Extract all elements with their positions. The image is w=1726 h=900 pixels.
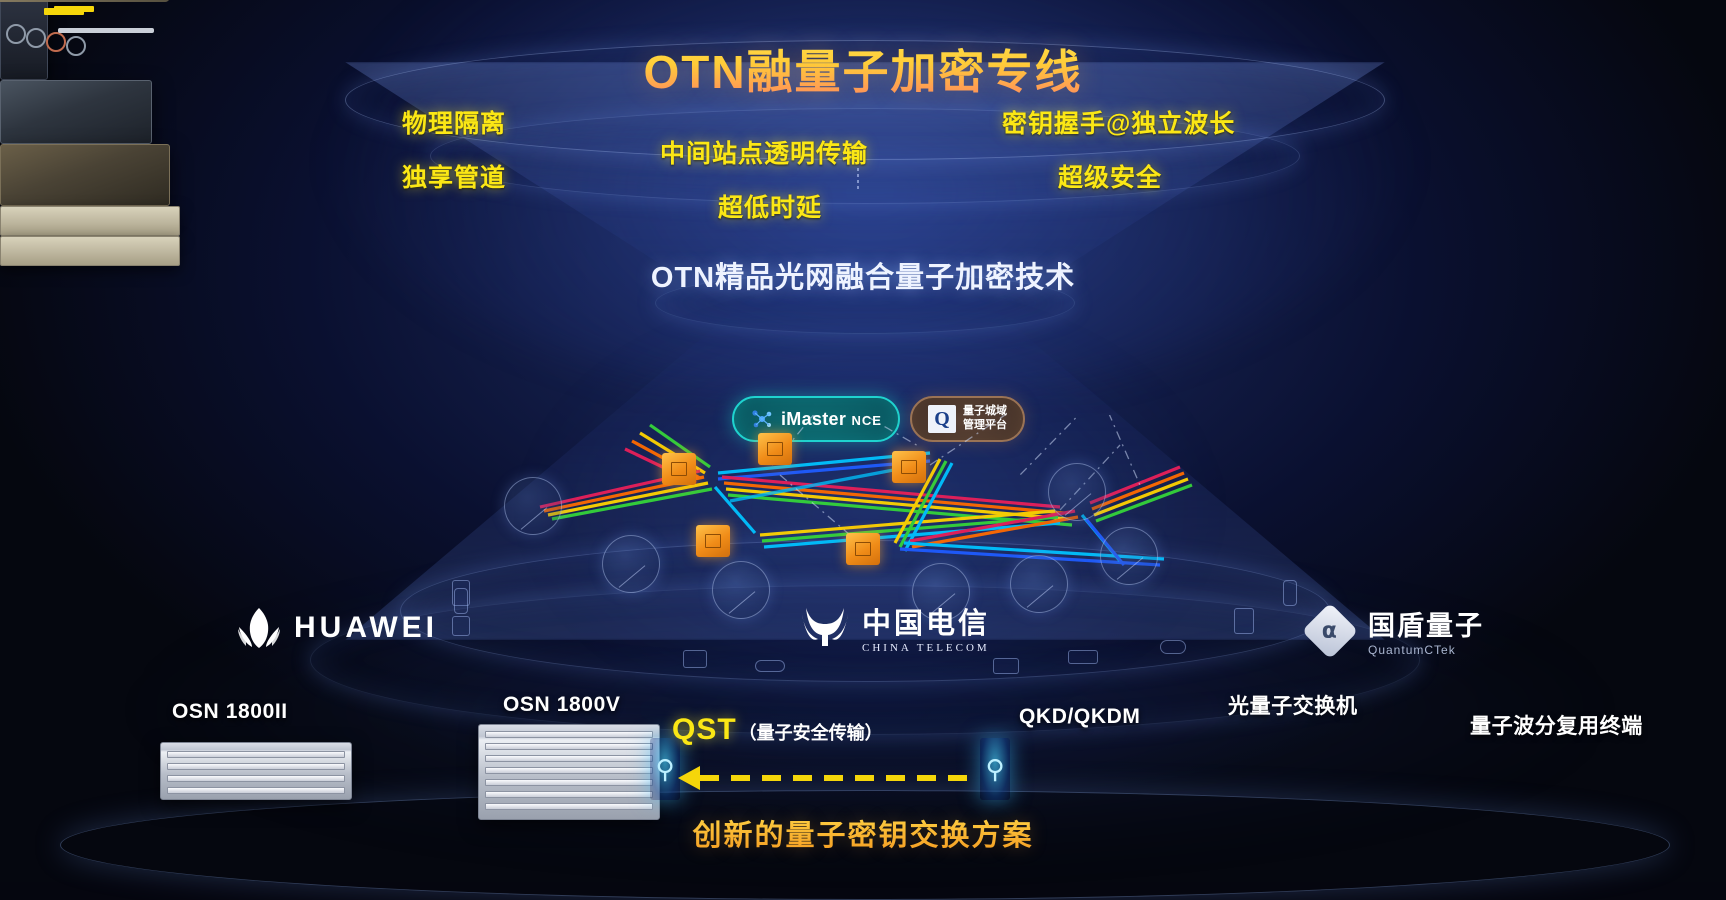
feature-label-key-handshake: 密钥握手@独立波长 — [1002, 104, 1235, 140]
topology-node-2[interactable] — [758, 433, 792, 465]
logo-huawei: HUAWEI — [236, 607, 438, 649]
optical-circle-2 — [602, 535, 660, 593]
device-label-qkd: QKD/QKDM — [1019, 705, 1140, 729]
logo-china-telecom: 中国电信 CHINA TELECOM — [800, 600, 990, 654]
qst-expansion: （量子安全传输） — [739, 723, 883, 743]
quantumctek-diamond-icon: α — [1302, 602, 1359, 659]
topology-node-1[interactable] — [662, 453, 696, 485]
dotted-connector — [857, 168, 859, 190]
topology-node-3[interactable] — [696, 525, 730, 557]
topology-node-5[interactable] — [892, 451, 926, 483]
switch-yellow-stripe-2 — [44, 8, 84, 15]
telecom-cn-name: 中国电信 — [862, 600, 990, 642]
qctek-cn-name: 国盾量子 — [1368, 604, 1484, 643]
qst-arrow-line — [700, 775, 968, 781]
cloud-nce-label: iMaster NCE — [781, 409, 882, 430]
qctek-en-name: QuantumCTek — [1368, 643, 1484, 657]
switch-port-row — [58, 28, 154, 33]
logo-quantumctek: α 国盾量子 QuantumCTek — [1310, 604, 1484, 657]
device-label-osn1800v: OSN 1800V — [503, 693, 620, 717]
feature-label-transparent-transmission: 中间站点透明传输 — [660, 134, 868, 170]
quantum-key-icon-left: ⚲ — [650, 738, 680, 800]
cabinet-glyph-icon — [1234, 608, 1254, 634]
feature-label-ultra-low-latency: 超低时延 — [718, 188, 822, 224]
center-technology-title: OTN精品光网融合量子加密技术 — [563, 258, 1163, 299]
feature-label-super-secure: 超级安全 — [1058, 158, 1162, 194]
qst-caption: QST（量子安全传输） — [672, 713, 883, 747]
feature-label-dedicated-pipe: 独享管道 — [402, 158, 506, 194]
monitor-glyph-icon — [683, 650, 707, 668]
optical-circle-7 — [1048, 463, 1106, 521]
device-label-quantum-wdm-terminal: 量子波分复用终端 — [1470, 710, 1643, 740]
device-quantum-wdm-terminal-1 — [0, 206, 180, 236]
optical-circle-6 — [1100, 527, 1158, 585]
telecom-en-name: CHINA TELECOM — [862, 642, 990, 654]
page-title: OTN融量子加密专线 — [0, 36, 1726, 102]
optical-circle-1 — [504, 477, 562, 535]
switch-top-face — [0, 0, 181, 2]
device-quantum-wdm-terminal-2 — [0, 236, 180, 266]
device-label-osn1800ii: OSN 1800II — [172, 700, 288, 724]
qst-arrow-head-icon — [678, 766, 700, 790]
phone-glyph-icon-left — [454, 588, 468, 614]
gateway-glyph-icon — [1160, 640, 1186, 654]
quantum-key-icon-right: ⚲ — [980, 738, 1010, 800]
topology-node-4[interactable] — [846, 533, 880, 565]
china-telecom-icon — [800, 604, 850, 650]
optical-circle-3 — [712, 561, 770, 619]
feature-label-physical-isolation: 物理隔离 — [402, 104, 506, 140]
router-glyph-icon — [1068, 650, 1098, 664]
network-topology — [500, 415, 1200, 585]
qst-acronym: QST — [672, 713, 737, 746]
huawei-flower-icon — [236, 607, 282, 649]
quantum-q-badge: Q — [928, 405, 956, 433]
optical-circle-5 — [1010, 555, 1068, 613]
bottom-note: 创新的量子密钥交换方案 — [0, 812, 1726, 854]
phone-glyph-icon — [1283, 580, 1297, 606]
device-glyph-icon — [993, 658, 1019, 674]
storage-glyph-icon — [452, 616, 470, 636]
device-osn1800v — [478, 724, 660, 820]
cloud-quantum-label: 量子城域管理平台 — [963, 405, 1007, 433]
device-osn1800ii — [160, 742, 352, 800]
laptop-glyph-icon — [755, 660, 785, 672]
device-optical-quantum-switch — [0, 144, 170, 206]
device-label-optical-quantum-switch: 光量子交换机 — [1228, 690, 1358, 720]
huawei-wordmark: HUAWEI — [294, 611, 438, 645]
